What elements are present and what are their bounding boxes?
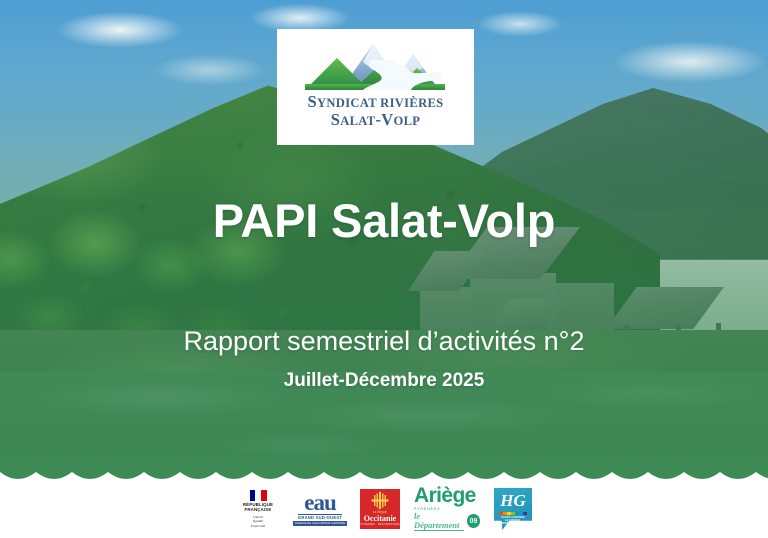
republique-label: RÉPUBLIQUE FRANÇAISE bbox=[243, 502, 273, 513]
republique-motto: Liberté Égalité Fraternité bbox=[251, 515, 265, 529]
logo-line2-tail: OLP bbox=[393, 114, 420, 128]
partner-logo-footer: RÉPUBLIQUE FRANÇAISE Liberté Égalité Fra… bbox=[0, 480, 768, 538]
logo-line2-rest: ALAT bbox=[340, 114, 375, 128]
partner-logo-ariege-departement: Ariège PYRÉNÉES le Département 09 bbox=[414, 487, 480, 530]
page-title: PAPI Salat-Volp bbox=[0, 196, 768, 246]
title-slide: SYNDICAT RIVIÈRES SALAT-VOLP PAPI Salat-… bbox=[0, 0, 768, 538]
logo-line1-initial: S bbox=[308, 92, 317, 111]
haute-garonne-label: HAUTE-GARONNE LE CONSEIL DÉPARTEMENTAL bbox=[494, 516, 532, 525]
logo-line2-dash: -V bbox=[375, 110, 393, 129]
ariege-number-badge: 09 bbox=[467, 514, 480, 528]
haute-garonne-color-bars bbox=[499, 512, 527, 515]
logo-line2-initial: S bbox=[331, 110, 340, 129]
logo-line1-rest: YNDICAT RIVIÈRES bbox=[317, 96, 443, 110]
eau-region-label: GRAND SUD-OUEST bbox=[298, 514, 342, 521]
partner-logo-region-occitanie: La Région Occitanie PYRÉNÉES · MÉDITERRA… bbox=[360, 489, 400, 529]
organisation-logo-card: SYNDICAT RIVIÈRES SALAT-VOLP bbox=[277, 29, 474, 145]
scalloped-divider bbox=[0, 458, 768, 480]
ariege-departement-label: le Département bbox=[414, 512, 464, 531]
ariege-wordmark: Ariège bbox=[414, 487, 476, 506]
occitan-cross-icon bbox=[370, 491, 390, 510]
eau-wordmark: eau bbox=[304, 492, 336, 513]
logo-text-line-1: SYNDICAT RIVIÈRES bbox=[308, 93, 444, 111]
subtitle: Rapport semestriel d’activités n°2 bbox=[0, 327, 768, 357]
partner-logo-haute-garonne: HG HAUTE-GARONNE LE CONSEIL DÉPARTEMENTA… bbox=[494, 488, 532, 530]
occitanie-tagline: PYRÉNÉES · MÉDITERRANÉE bbox=[360, 524, 399, 527]
eau-agency-label: AGENCE DE L'EAU ADOUR-GARONNE bbox=[293, 521, 347, 526]
date-range: Juillet-Décembre 2025 bbox=[0, 370, 768, 392]
haute-garonne-monogram: HG bbox=[494, 492, 532, 509]
partner-logo-agence-eau-grand-sud-ouest: eau GRAND SUD-OUEST AGENCE DE L'EAU ADOU… bbox=[294, 492, 346, 527]
logo-text-line-2: SALAT-VOLP bbox=[331, 111, 421, 129]
french-flag-icon bbox=[250, 490, 267, 501]
title-block: PAPI Salat-Volp bbox=[0, 196, 768, 246]
partner-logo-republique-francaise: RÉPUBLIQUE FRANÇAISE Liberté Égalité Fra… bbox=[236, 490, 280, 529]
mountains-and-river-icon bbox=[301, 36, 451, 92]
